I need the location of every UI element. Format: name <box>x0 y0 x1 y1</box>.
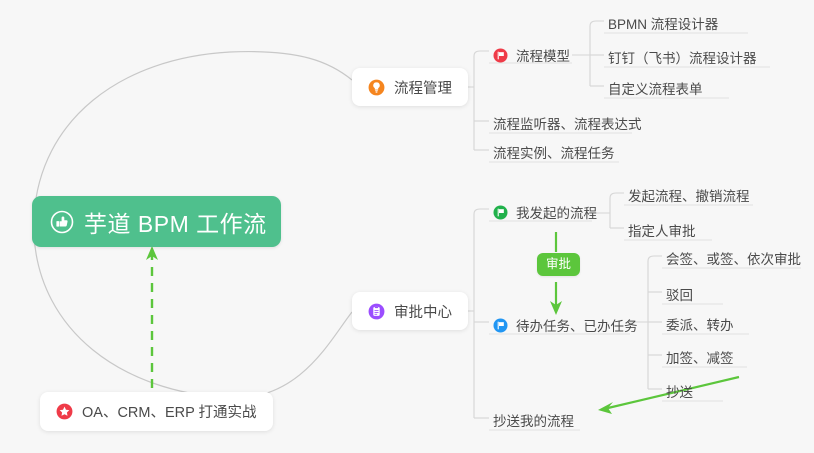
root-label: 芋道 BPM 工作流 <box>84 205 267 239</box>
node-my-started-processes[interactable]: 我发起的流程 <box>489 199 603 225</box>
node-process-listener[interactable]: 流程监听器、流程表达式 <box>489 110 648 136</box>
node-custom-form[interactable]: 自定义流程表单 <box>604 75 709 101</box>
node-label: 我发起的流程 <box>516 202 597 222</box>
node-label: 流程监听器、流程表达式 <box>493 113 642 133</box>
node-cc-to-me[interactable]: 抄送我的流程 <box>489 407 580 433</box>
node-add-remove-sign[interactable]: 加签、减签 <box>662 344 740 370</box>
node-cc[interactable]: 抄送 <box>662 378 699 404</box>
flag-icon <box>493 48 508 63</box>
node-label: 流程实例、流程任务 <box>493 142 615 162</box>
node-label: 委派、转办 <box>666 314 734 334</box>
node-label: 待办任务、已办任务 <box>516 315 638 335</box>
star-icon <box>56 403 73 420</box>
branch-label: 流程管理 <box>394 77 452 98</box>
node-delegate-transfer[interactable]: 委派、转办 <box>662 311 740 337</box>
node-label: 加签、减签 <box>666 347 734 367</box>
branch-node-approval-center[interactable]: 审批中心 <box>352 292 468 330</box>
node-label: 钉钉（飞书）流程设计器 <box>608 47 757 67</box>
node-label: 抄送我的流程 <box>493 410 574 430</box>
node-label: 驳回 <box>666 284 693 304</box>
integration-node[interactable]: OA、CRM、ERP 打通实战 <box>40 392 273 431</box>
branch-label: 审批中心 <box>394 301 452 322</box>
node-bpmn-designer[interactable]: BPMN 流程设计器 <box>604 10 724 36</box>
node-reject[interactable]: 驳回 <box>662 281 699 307</box>
approve-tag: 审批 <box>537 253 580 276</box>
node-label: 发起流程、撤销流程 <box>628 185 750 205</box>
mindmap-canvas: 芋道 BPM 工作流 流程管理 流程模型 BPMN 流程设计器 钉钉（飞书 <box>0 0 814 453</box>
node-countersign[interactable]: 会签、或签、依次审批 <box>662 245 807 271</box>
flag-icon <box>493 205 508 220</box>
flag-icon <box>493 318 508 333</box>
branch-node-process-management[interactable]: 流程管理 <box>352 68 468 106</box>
node-label: 指定人审批 <box>628 220 696 240</box>
integration-arrow <box>146 246 158 388</box>
clipboard-icon <box>368 303 385 320</box>
integration-label: OA、CRM、ERP 打通实战 <box>82 401 257 422</box>
node-process-model[interactable]: 流程模型 <box>489 42 576 68</box>
approve-tag-label: 审批 <box>546 257 571 271</box>
node-process-instance[interactable]: 流程实例、流程任务 <box>489 139 621 165</box>
node-dingtalk-feishu-designer[interactable]: 钉钉（飞书）流程设计器 <box>604 44 763 70</box>
lightbulb-icon <box>368 79 385 96</box>
node-assigned-approval[interactable]: 指定人审批 <box>624 217 702 243</box>
node-todo-done-tasks[interactable]: 待办任务、已办任务 <box>489 312 644 338</box>
node-label: 流程模型 <box>516 45 570 65</box>
node-label: 会签、或签、依次审批 <box>666 248 801 268</box>
node-label: 抄送 <box>666 381 693 401</box>
thumbs-up-icon <box>50 210 74 234</box>
node-start-cancel-process[interactable]: 发起流程、撤销流程 <box>624 182 756 208</box>
root-node[interactable]: 芋道 BPM 工作流 <box>32 196 281 247</box>
node-label: 自定义流程表单 <box>608 78 703 98</box>
node-label: BPMN 流程设计器 <box>608 13 718 33</box>
